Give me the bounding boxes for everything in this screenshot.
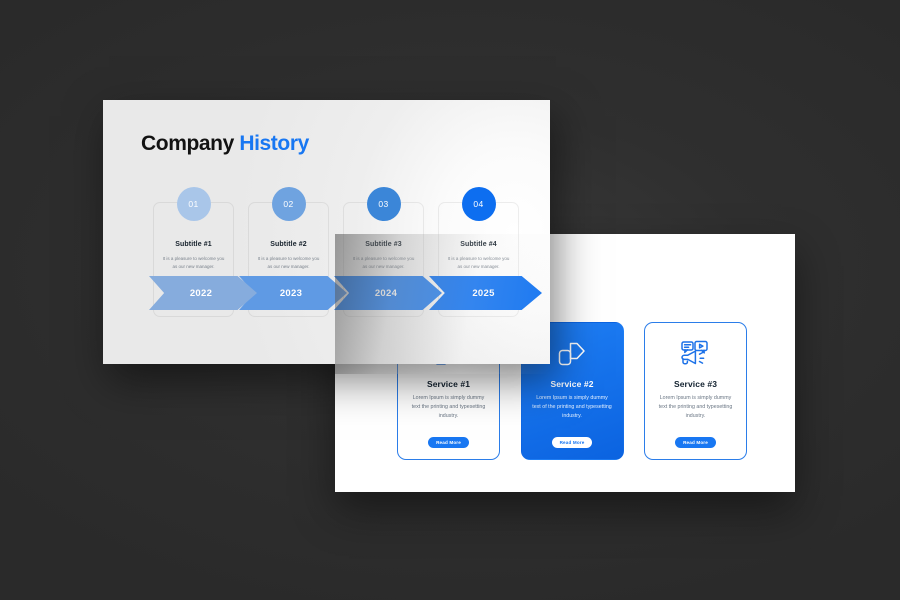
page-title-main: Company [141, 132, 234, 155]
step-title: Subtitle #1 [154, 241, 233, 248]
service-card-description: Lorem Ipsum is simply dummy text of the … [530, 394, 615, 421]
page-title-accent: History [239, 132, 309, 155]
play-video-icon [557, 334, 587, 374]
timeline-arrow-2025[interactable]: 2025 [429, 276, 542, 310]
step-title: Subtitle #4 [439, 241, 518, 248]
timeline-year-label: 2025 [472, 288, 494, 299]
step-number-badge-3: 03 [367, 187, 401, 221]
step-number-badge-4: 04 [462, 187, 496, 221]
timeline-year-label: 2023 [280, 288, 302, 299]
timeline: 01 Subtitle #1 It is a pleasure to welco… [153, 188, 538, 333]
step-description: It is a pleasure to welcome you as our n… [160, 255, 227, 272]
service-card-title: Service #2 [550, 379, 593, 389]
service-card-3[interactable]: Service #3 Lorem Ipsum is simply dummy t… [644, 322, 747, 460]
timeline-arrow-2022[interactable]: 2022 [149, 276, 257, 310]
timeline-arrow-band: 2022 2023 2024 2025 [153, 276, 538, 310]
service-card-title: Service #1 [427, 379, 470, 389]
service-card-description: Lorem Ipsum is simply dummy text the pri… [653, 394, 738, 421]
timeline-year-label: 2024 [375, 288, 397, 299]
read-more-button[interactable]: Read More [552, 437, 593, 448]
megaphone-icon [680, 334, 712, 374]
read-more-button[interactable]: Read More [675, 437, 716, 448]
step-description: It is a pleasure to welcome you as our n… [255, 255, 322, 272]
step-description: It is a pleasure to welcome you as our n… [350, 255, 417, 272]
step-title: Subtitle #2 [249, 241, 328, 248]
read-more-button[interactable]: Read More [428, 437, 469, 448]
step-number-badge-2: 02 [272, 187, 306, 221]
service-card-description: Lorem Ipsum is simply dummy text the pri… [406, 394, 491, 421]
timeline-arrow-2024[interactable]: 2024 [334, 276, 442, 310]
page-title: Company History [141, 132, 309, 156]
step-description: It is a pleasure to welcome you as our n… [445, 255, 512, 272]
step-title: Subtitle #3 [344, 241, 423, 248]
slide-company-history[interactable]: Company History 01 Subtitle #1 It is a p… [103, 100, 550, 364]
timeline-year-label: 2022 [190, 288, 212, 299]
step-number-badge-1: 01 [177, 187, 211, 221]
service-card-title: Service #3 [674, 379, 717, 389]
